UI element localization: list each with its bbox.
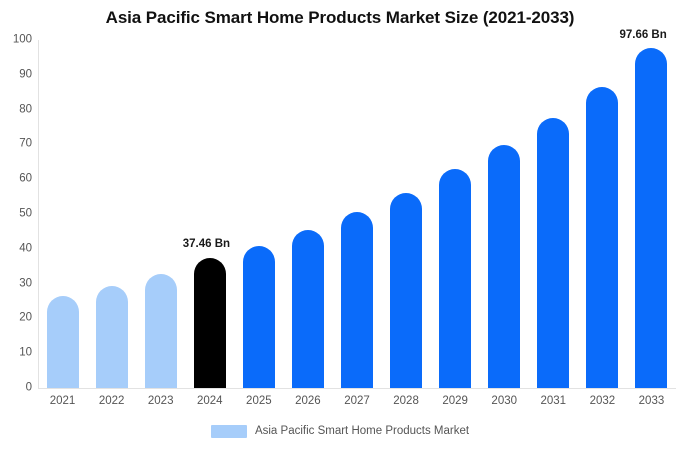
bar-2028[interactable] — [390, 193, 422, 388]
x-axis-tick-label-2026: 2026 — [285, 392, 331, 410]
x-axis-tick-label-2021: 2021 — [40, 392, 86, 410]
bar-2033[interactable] — [635, 48, 667, 388]
x-axis-tick-label-2031: 2031 — [530, 392, 576, 410]
y-axis-tick-label: 60 — [0, 173, 32, 185]
y-axis-tick-labels: 0102030405060708090100 — [0, 40, 32, 388]
y-axis-tick-label: 0 — [0, 382, 32, 394]
bar-2026[interactable] — [292, 230, 324, 388]
bar-2029[interactable] — [439, 169, 471, 388]
x-axis-tick-label-2030: 2030 — [481, 392, 527, 410]
x-axis-tick-label-2033: 2033 — [628, 392, 674, 410]
y-axis-tick-label: 100 — [0, 34, 32, 46]
x-axis-tick-label-2022: 2022 — [89, 392, 135, 410]
y-axis-tick-label: 40 — [0, 243, 32, 255]
x-axis-tick-label-2023: 2023 — [138, 392, 184, 410]
y-axis-tick-label: 20 — [0, 313, 32, 325]
x-axis-line — [38, 388, 676, 389]
bar-2021[interactable] — [47, 296, 79, 388]
x-axis-tick-label-2028: 2028 — [383, 392, 429, 410]
bar-2031[interactable] — [537, 118, 569, 388]
chart-container: Asia Pacific Smart Home Products Market … — [0, 0, 680, 450]
bar-2030[interactable] — [488, 145, 520, 388]
bars-layer: 37.46 Bn97.66 Bn — [38, 40, 676, 388]
x-axis-tick-labels: 2021202220232024202520262027202820292030… — [38, 392, 676, 412]
y-axis-tick-label: 50 — [0, 208, 32, 220]
data-label-2033: 97.66 Bn — [619, 30, 666, 42]
y-axis-tick-label: 70 — [0, 139, 32, 151]
y-axis-tick-label: 80 — [0, 104, 32, 116]
bar-2024[interactable] — [194, 258, 226, 388]
x-axis-tick-label-2029: 2029 — [432, 392, 478, 410]
legend-swatch[interactable] — [211, 425, 247, 438]
bar-2032[interactable] — [586, 87, 618, 388]
x-axis-tick-label-2032: 2032 — [579, 392, 625, 410]
x-axis-tick-label-2024: 2024 — [187, 392, 233, 410]
bar-2022[interactable] — [96, 286, 128, 388]
chart-title: Asia Pacific Smart Home Products Market … — [0, 8, 680, 28]
y-axis-tick-label: 10 — [0, 347, 32, 359]
x-axis-tick-label-2027: 2027 — [334, 392, 380, 410]
y-axis-tick-label: 30 — [0, 278, 32, 290]
bar-2023[interactable] — [145, 274, 177, 388]
x-axis-tick-label-2025: 2025 — [236, 392, 282, 410]
bar-2025[interactable] — [243, 246, 275, 388]
y-axis-tick-label: 90 — [0, 69, 32, 81]
bar-2027[interactable] — [341, 212, 373, 388]
data-label-2024: 37.46 Bn — [183, 239, 230, 251]
legend-label[interactable]: Asia Pacific Smart Home Products Market — [255, 426, 469, 438]
chart-legend: Asia Pacific Smart Home Products Market — [0, 425, 680, 438]
